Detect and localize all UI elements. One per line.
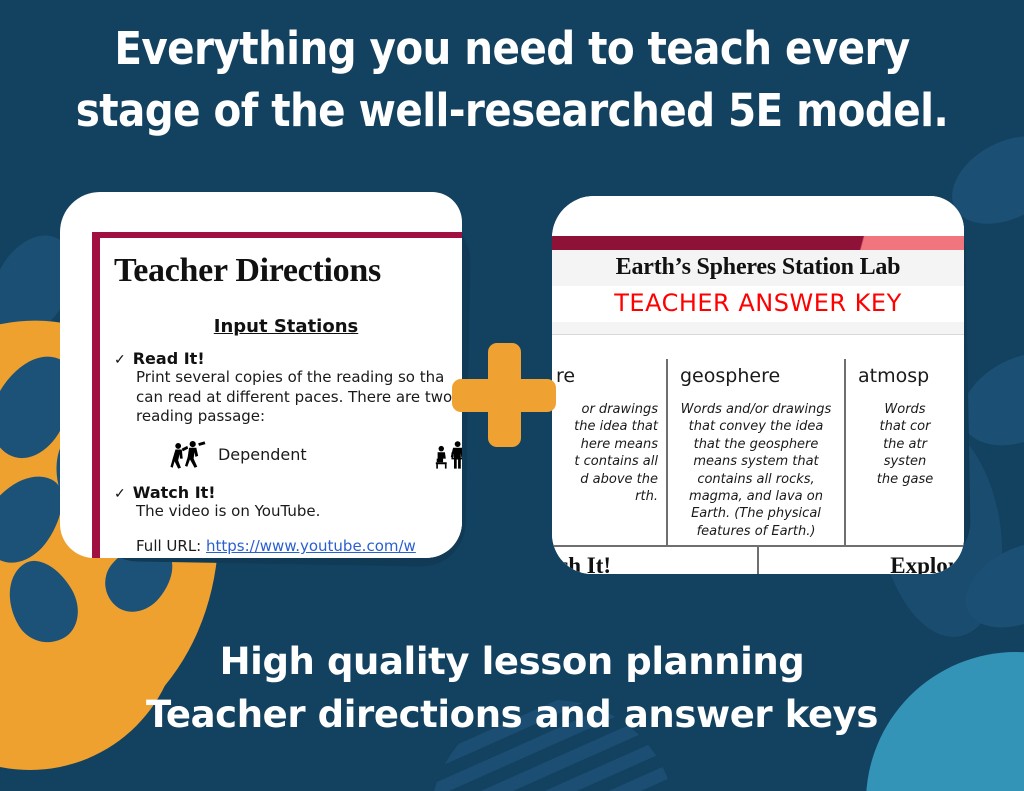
headline-line-2: stage of the well-researched 5E model. xyxy=(0,80,1024,142)
people-running-icon xyxy=(170,439,210,471)
teacher-directions-card[interactable]: Teacher Directions Input Stations ✓ Read… xyxy=(60,192,462,558)
read-it-body-line-2: can read at different paces. There are t… xyxy=(136,388,462,408)
read-it-body-line-1: Print several copies of the reading so t… xyxy=(136,368,462,388)
answer-key-title: Earth’s Spheres Station Lab xyxy=(552,250,964,286)
teacher-directions-page: Teacher Directions Input Stations ✓ Read… xyxy=(92,232,462,558)
answer-key-page: Earth’s Spheres Station Lab TEACHER ANSW… xyxy=(552,196,964,574)
headline: Everything you need to teach every stage… xyxy=(0,18,1024,142)
table-top-gap xyxy=(552,335,964,359)
column-header-hydrosphere: re xyxy=(556,365,658,387)
bottom-cell-explore: Explor xyxy=(759,547,964,574)
url-label: Full URL: xyxy=(136,537,201,555)
bottom-cell-watch-it: ch It! xyxy=(552,547,759,574)
maroon-header-bar xyxy=(552,236,964,250)
watch-it-body-line-1: The video is on YouTube. xyxy=(136,502,462,522)
page-top-margin xyxy=(552,196,964,236)
subline-line-2: Teacher directions and answer keys xyxy=(0,689,1024,742)
cell-atmosphere: Wordsthat corthe atrsystenthe gase xyxy=(854,401,956,488)
table-column-hydrosphere: re or drawingsthe idea thathere meanst c… xyxy=(552,359,668,545)
column-header-atmosphere: atmosp xyxy=(858,365,956,387)
item-heading-read-it: Read It! xyxy=(133,349,205,368)
read-it-body-line-3: reading passage: xyxy=(136,407,462,427)
list-item: ✓ Read It! xyxy=(114,349,462,368)
headline-line-1: Everything you need to teach every xyxy=(0,18,1024,80)
header-divider xyxy=(552,322,964,335)
checkmark-icon: ✓ xyxy=(114,351,126,368)
answer-key-card[interactable]: Earth’s Spheres Station Lab TEACHER ANSW… xyxy=(552,196,964,574)
promo-graphic: Everything you need to teach every stage… xyxy=(0,0,1024,791)
checkmark-icon: ✓ xyxy=(114,485,126,502)
cell-geosphere: Words and/or drawings that convey the id… xyxy=(676,401,836,540)
column-header-geosphere: geosphere xyxy=(680,365,836,387)
answer-key-table: re or drawingsthe idea thathere meanst c… xyxy=(552,359,964,545)
section-heading: Input Stations xyxy=(114,316,458,337)
cell-hydrosphere: or drawingsthe idea thathere meanst cont… xyxy=(552,401,658,505)
table-column-geosphere: geosphere Words and/or drawings that con… xyxy=(668,359,846,545)
full-url-line: Full URL: https://www.youtube.com/w xyxy=(136,537,462,555)
subline-line-1: High quality lesson planning xyxy=(0,636,1024,689)
pictogram-label-dependent: Dependent xyxy=(218,445,307,464)
document-title: Teacher Directions xyxy=(114,252,462,290)
youtube-link[interactable]: https://www.youtube.com/w xyxy=(206,537,416,555)
answer-key-subtitle: TEACHER ANSWER KEY xyxy=(552,286,964,322)
table-column-atmosphere: atmosp Wordsthat corthe atrsystenthe gas… xyxy=(846,359,964,545)
pictogram-row: Dependent M xyxy=(170,439,462,471)
subline: High quality lesson planning Teacher dir… xyxy=(0,636,1024,741)
item-heading-watch-it: Watch It! xyxy=(133,483,216,502)
plus-icon xyxy=(452,343,556,447)
list-item: ✓ Watch It! xyxy=(114,483,462,502)
table-bottom-row: ch It! Explor xyxy=(552,545,964,574)
pink-accent-stripe xyxy=(814,236,964,250)
plus-vertical-bar xyxy=(488,343,521,447)
